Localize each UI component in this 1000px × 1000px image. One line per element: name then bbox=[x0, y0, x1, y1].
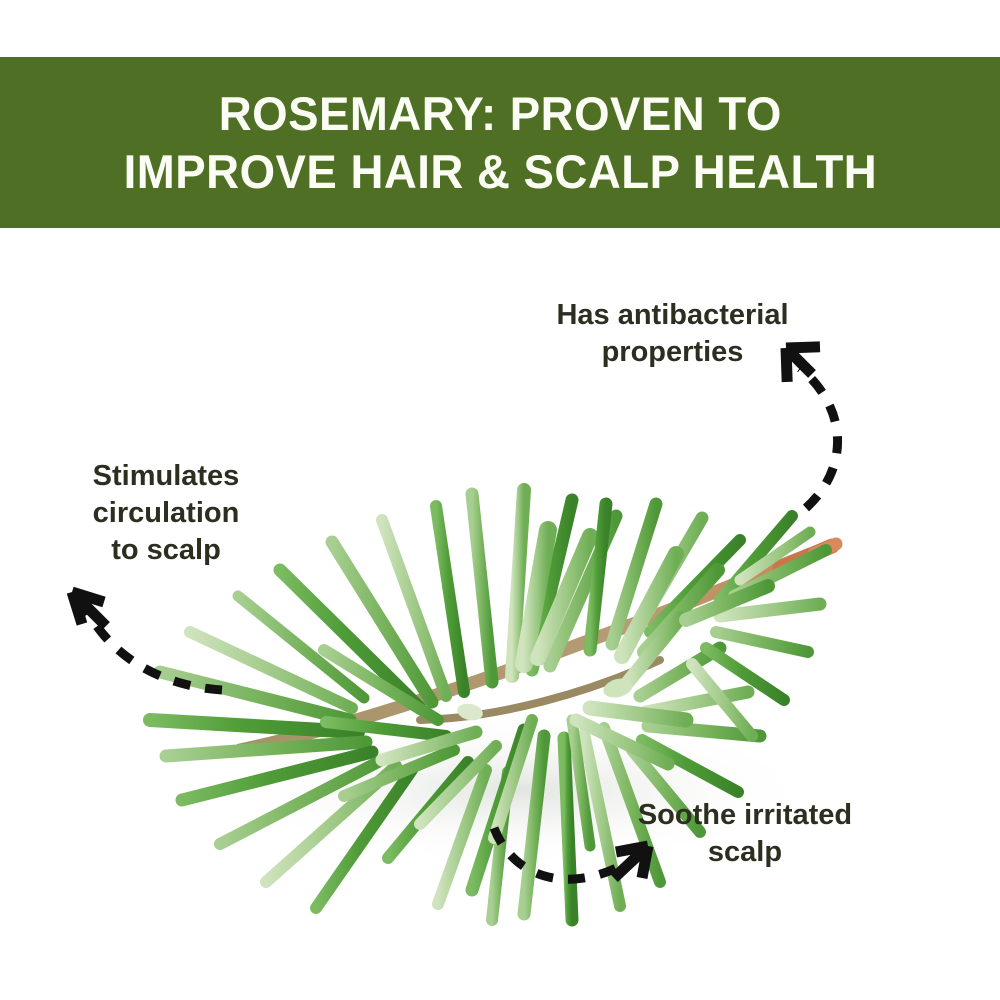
annotation-soothe: Soothe irritated scalp bbox=[585, 797, 905, 871]
annotation-circulation: Stimulates circulation to scalp bbox=[46, 458, 286, 569]
rosemary-benefits-infographic: ROSEMARY: PROVEN TO IMPROVE HAIR & SCALP… bbox=[0, 0, 1000, 1000]
header-title-line-2: IMPROVE HAIR & SCALP HEALTH bbox=[123, 143, 877, 201]
header-title-line-1: ROSEMARY: PROVEN TO bbox=[218, 85, 781, 143]
header-banner: ROSEMARY: PROVEN TO IMPROVE HAIR & SCALP… bbox=[0, 57, 1000, 228]
annotation-antibacterial: Has antibacterial properties bbox=[500, 297, 845, 371]
